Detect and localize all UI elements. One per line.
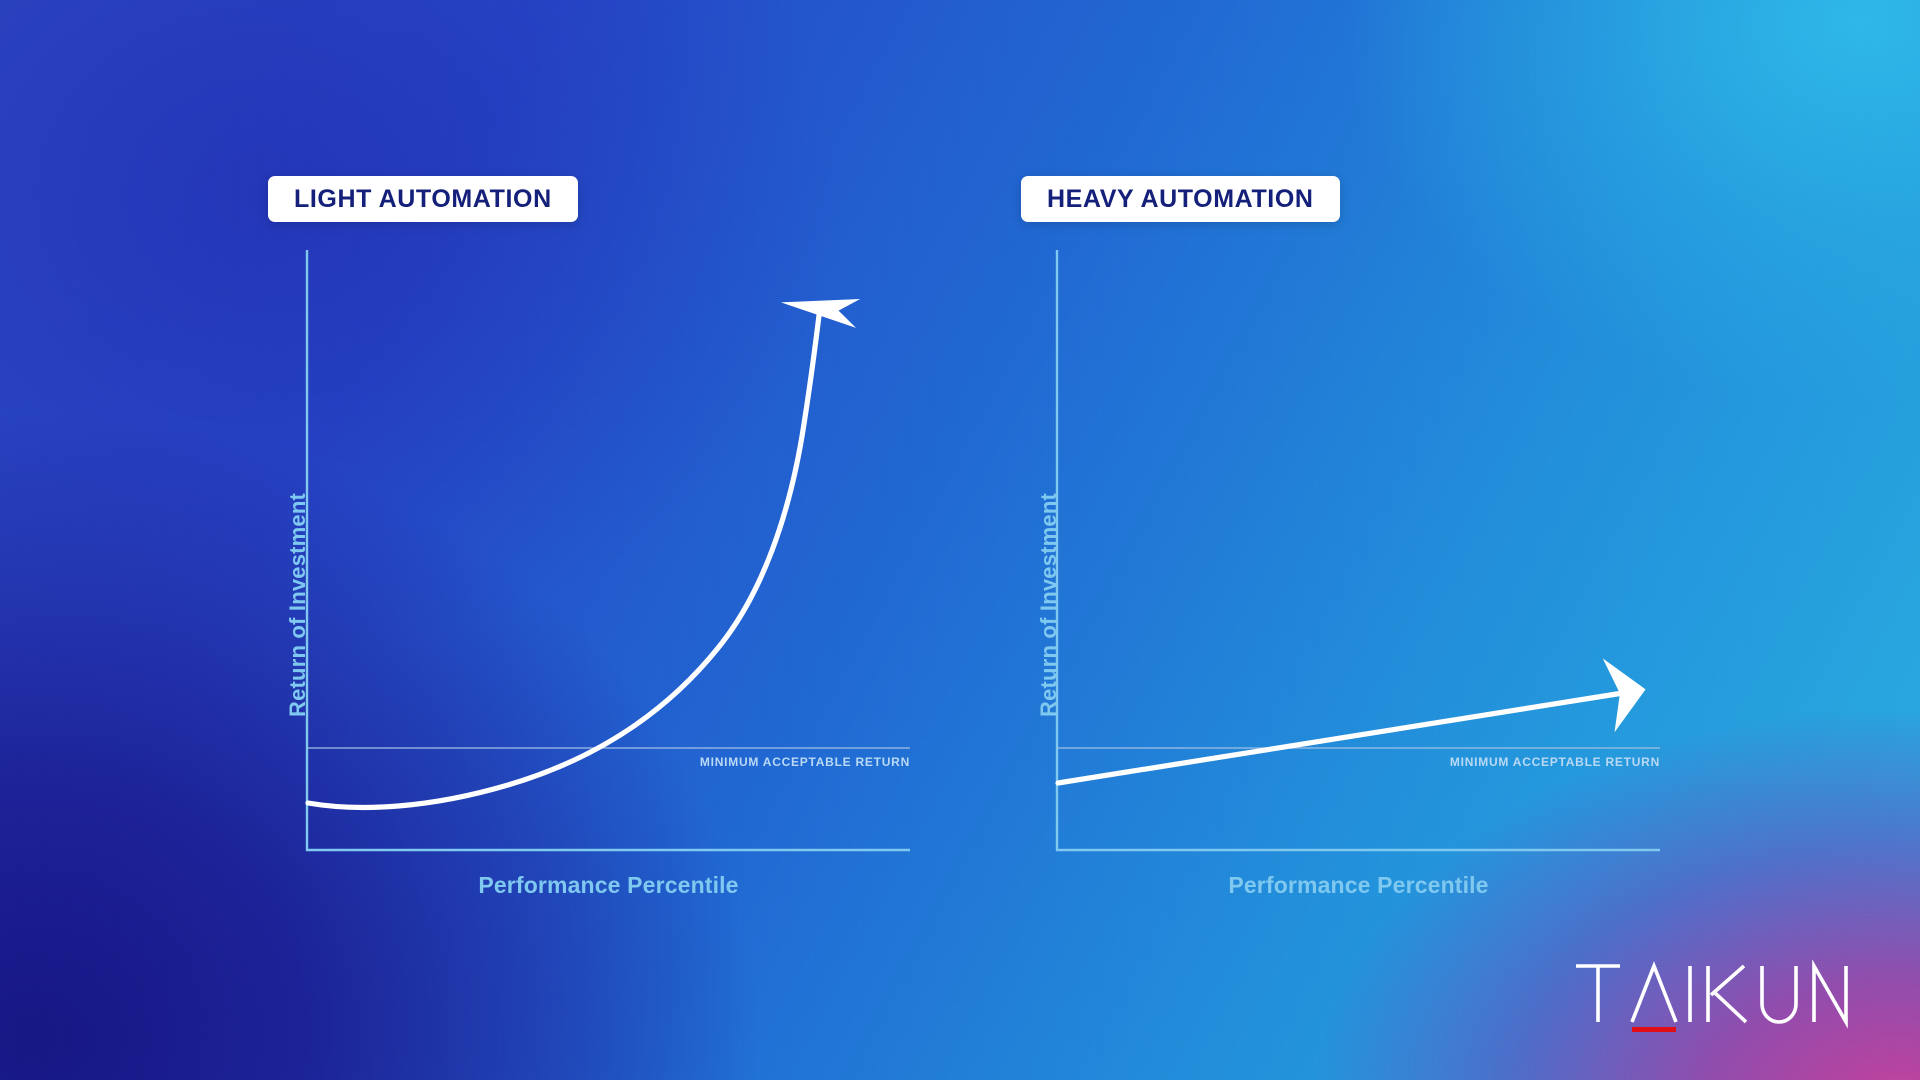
logo-letter-u — [1762, 966, 1796, 1022]
logo-letter-a — [1632, 966, 1676, 1022]
logo-letter-n — [1814, 966, 1846, 1022]
logo-letter-t — [1576, 966, 1620, 1022]
logo-letter-k — [1708, 966, 1746, 1022]
x-axis-title-heavy: Performance Percentile — [1057, 872, 1660, 899]
chart-heavy-automation — [0, 0, 1920, 1080]
taikun-logo — [1572, 960, 1852, 1038]
infographic-canvas: LIGHT AUTOMATION Return of Investment Pe… — [0, 0, 1920, 1080]
logo-accent-underline — [1632, 1027, 1676, 1032]
y-axis-title-heavy: Return of Investment — [1036, 493, 1062, 717]
threshold-label-heavy: MINIMUM ACCEPTABLE RETURN — [1260, 755, 1660, 769]
roi-curve-heavy-automation — [1058, 693, 1623, 783]
